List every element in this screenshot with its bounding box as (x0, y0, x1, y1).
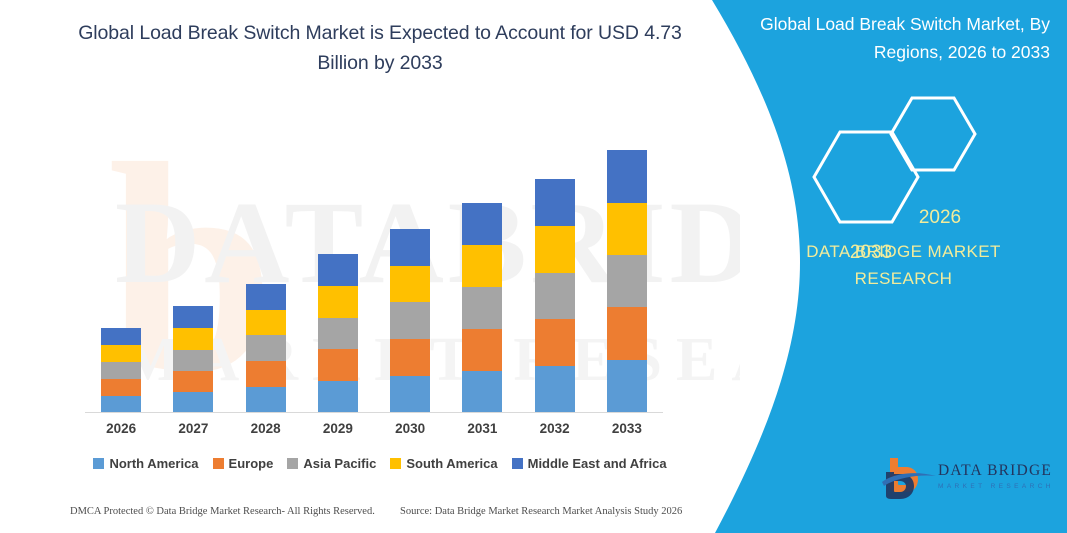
legend-item[interactable]: Europe (213, 456, 274, 471)
bar-segment[interactable] (535, 273, 575, 319)
legend-item[interactable]: North America (93, 456, 198, 471)
bar-segment[interactable] (318, 254, 358, 286)
legend-swatch-icon (512, 458, 523, 469)
bar-segment[interactable] (173, 350, 213, 371)
legend-swatch-icon (213, 458, 224, 469)
footer-source: Source: Data Bridge Market Research Mark… (400, 506, 682, 517)
bar-segment[interactable] (390, 266, 430, 302)
bar-segment[interactable] (390, 302, 430, 339)
bar-segment[interactable] (246, 284, 286, 310)
bar-segment[interactable] (318, 381, 358, 413)
bar-segment[interactable] (318, 349, 358, 381)
brand-line-2: RESEARCH (740, 265, 1067, 292)
page-title: Global Load Break Switch Market is Expec… (60, 18, 700, 78)
right-blue-panel: Global Load Break Switch Market, By Regi… (740, 0, 1067, 533)
infographic-root: b DATABRIDGE MARKET RESEARCH Global Load… (0, 0, 1067, 533)
bar-segment[interactable] (390, 339, 430, 376)
hexagon-2026 (891, 98, 975, 170)
legend-label: South America (406, 456, 497, 471)
right-panel-title: Global Load Break Switch Market, By Regi… (730, 10, 1066, 66)
bar-segment[interactable] (173, 328, 213, 350)
x-axis-line (85, 412, 663, 413)
legend-item[interactable]: Middle East and Africa (512, 456, 667, 471)
logo-tagline: MARKET RESEARCH (938, 483, 1067, 490)
x-axis-label-2026: 2026 (85, 421, 157, 436)
bar-segment[interactable] (607, 255, 647, 307)
legend-swatch-icon (93, 458, 104, 469)
bar-segment[interactable] (390, 229, 430, 266)
legend-swatch-icon (287, 458, 298, 469)
bar-segment[interactable] (607, 360, 647, 413)
bar-segment[interactable] (390, 376, 430, 413)
bar-segment[interactable] (462, 203, 502, 245)
bar-segment[interactable] (101, 328, 141, 345)
bar-segment[interactable] (535, 226, 575, 273)
bar-segment[interactable] (173, 392, 213, 413)
brand-text: DATA BRIDGE MARKET RESEARCH (740, 238, 1067, 292)
bar-segment[interactable] (535, 366, 575, 413)
bar-segment[interactable] (462, 245, 502, 287)
bar-segment[interactable] (318, 318, 358, 349)
bar-segment[interactable] (246, 361, 286, 387)
bar-segment[interactable] (607, 150, 647, 203)
bar-segment[interactable] (318, 286, 358, 318)
bar-segment[interactable] (173, 306, 213, 328)
legend-label: Europe (229, 456, 274, 471)
bar-column-2029[interactable] (318, 254, 358, 413)
x-axis-label-2027: 2027 (157, 421, 229, 436)
bar-segment[interactable] (101, 345, 141, 362)
x-axis-label-2028: 2028 (230, 421, 302, 436)
x-axis-label-2030: 2030 (374, 421, 446, 436)
logo-mark-icon (880, 452, 940, 500)
x-axis-label-2031: 2031 (446, 421, 518, 436)
legend-label: Asia Pacific (303, 456, 376, 471)
bar-segment[interactable] (246, 310, 286, 335)
logo-text-group: DATA BRIDGE MARKET RESEARCH (938, 462, 1067, 490)
chart-plot-area (85, 140, 663, 413)
bar-column-2028[interactable] (246, 284, 286, 413)
bar-column-2033[interactable] (607, 150, 647, 413)
left-chart-panel: Global Load Break Switch Market is Expec… (0, 0, 740, 533)
bar-segment[interactable] (535, 179, 575, 226)
legend-label: North America (109, 456, 198, 471)
bar-column-2031[interactable] (462, 203, 502, 413)
bar-segment[interactable] (607, 203, 647, 255)
bar-segment[interactable] (246, 387, 286, 413)
bar-column-2027[interactable] (173, 306, 213, 413)
bar-segment[interactable] (462, 371, 502, 413)
bar-segment[interactable] (101, 396, 141, 413)
bar-segment[interactable] (101, 379, 141, 396)
hexagon-2026-label: 2026 (905, 207, 975, 229)
bar-column-2032[interactable] (535, 179, 575, 413)
bar-segment[interactable] (246, 335, 286, 361)
legend-label: Middle East and Africa (528, 456, 667, 471)
x-axis-label-2029: 2029 (302, 421, 374, 436)
bar-segment[interactable] (535, 319, 575, 366)
bar-column-2030[interactable] (390, 229, 430, 413)
hexagon-2033 (814, 132, 918, 222)
legend-swatch-icon (390, 458, 401, 469)
bar-segment[interactable] (462, 287, 502, 329)
footer-copyright: DMCA Protected © Data Bridge Market Rese… (70, 506, 375, 517)
bar-column-2026[interactable] (101, 328, 141, 413)
chart-legend: North AmericaEuropeAsia PacificSouth Ame… (85, 456, 675, 471)
brand-line-1: DATA BRIDGE MARKET (740, 238, 1067, 265)
legend-item[interactable]: South America (390, 456, 497, 471)
footer: DMCA Protected © Data Bridge Market Rese… (0, 506, 700, 528)
data-bridge-logo: DATA BRIDGE MARKET RESEARCH (880, 452, 1067, 514)
x-axis-label-2033: 2033 (591, 421, 663, 436)
x-axis-label-2032: 2032 (519, 421, 591, 436)
bar-segment[interactable] (462, 329, 502, 371)
legend-item[interactable]: Asia Pacific (287, 456, 376, 471)
bar-segment[interactable] (101, 362, 141, 379)
bar-segment[interactable] (173, 371, 213, 392)
logo-name: DATA BRIDGE (938, 462, 1067, 480)
bar-segment[interactable] (607, 307, 647, 360)
hexagon-group: 2033 2026 (740, 82, 1067, 222)
